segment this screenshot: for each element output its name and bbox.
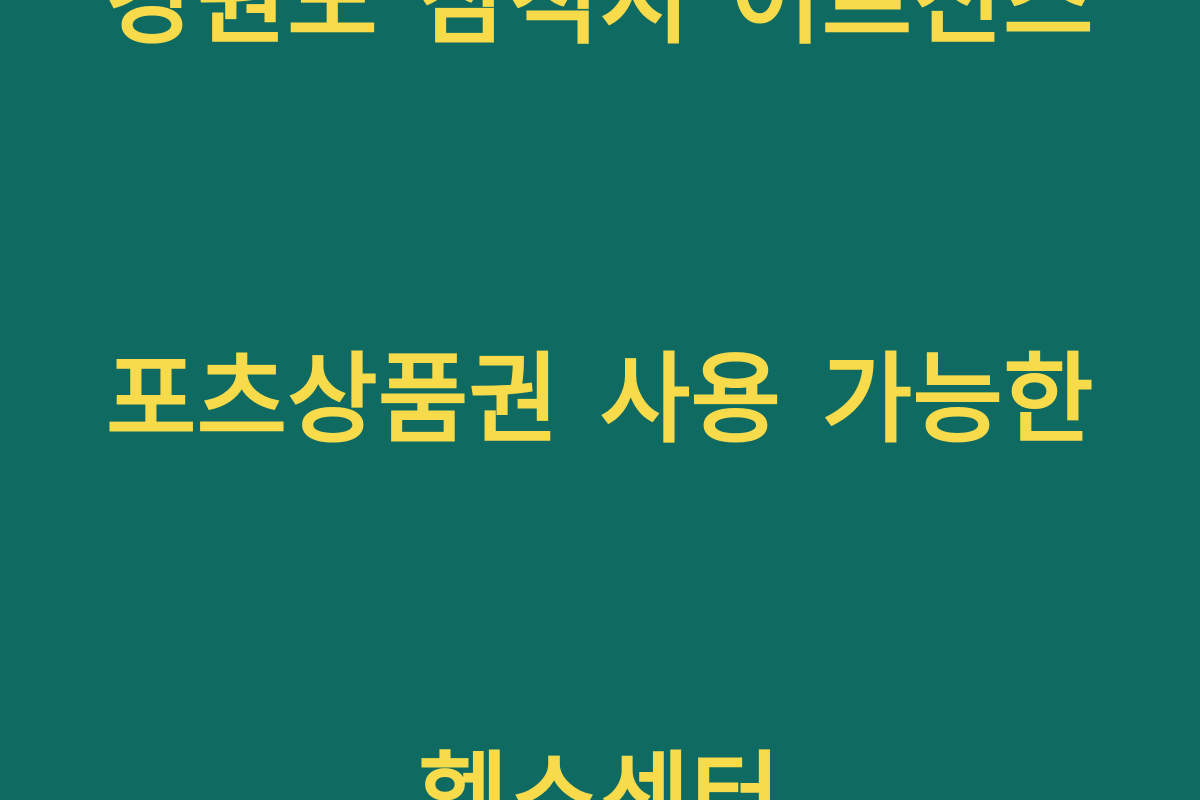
headline-line-2: 포츠상품권 사용 가능한 bbox=[40, 334, 1160, 467]
headline-line-1: 강원도 삼척시 어르신스 bbox=[40, 0, 1160, 68]
text-banner: 강원도 삼척시 어르신스 포츠상품권 사용 가능한 헬스센터 bbox=[0, 0, 1200, 800]
headline: 강원도 삼척시 어르신스 포츠상품권 사용 가능한 헬스센터 bbox=[40, 0, 1160, 800]
headline-line-3: 헬스센터 bbox=[40, 733, 1160, 800]
